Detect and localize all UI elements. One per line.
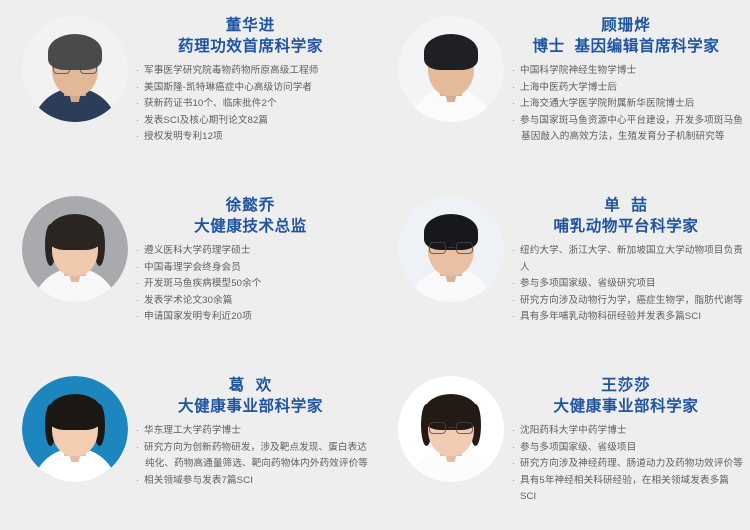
bullet-dot-icon: ·: [136, 243, 139, 260]
credential-item: ·中国科学院神经生物学博士: [512, 63, 744, 80]
credential-text: 研究方向涉及神经药理、肠道动力及药物功效评价等: [520, 458, 743, 469]
profile-heading: 王莎莎大健康事业部科学家: [512, 376, 744, 417]
team-grid: 董华进药理功效首席科学家·军事医学研究院毒物药物所原高级工程师·美国斯隆-凯特琳…: [0, 0, 750, 530]
profile-details: 董华进药理功效首席科学家·军事医学研究院毒物药物所原高级工程师·美国斯隆-凯特琳…: [128, 16, 375, 146]
credential-item: ·纽约大学、浙江大学、新加坡国立大学动物项目负责人: [512, 243, 744, 276]
credential-text-continued: 基因敲入的高效方法，生殖发育分子机制研究等: [520, 129, 744, 146]
person-name: 徐懿乔: [136, 196, 365, 216]
credential-text: 中国科学院神经生物学博士: [520, 65, 636, 76]
credential-text: 获新药证书10个、临床批件2个: [144, 98, 277, 109]
bullet-dot-icon: ·: [136, 113, 139, 130]
bullet-dot-icon: ·: [512, 473, 515, 490]
profile-card: 葛 欢大健康事业部科学家·华东理工大学药学博士·研究方向为创新药物研发，涉及靶点…: [0, 360, 375, 530]
credentials-list: ·华东理工大学药学博士·研究方向为创新药物研发，涉及靶点发现、蛋白表达纯化、药物…: [136, 423, 369, 489]
credential-text: 参与多项国家级、省级项目: [520, 442, 636, 453]
credential-item: ·参与多项国家级、省级研究项目: [512, 276, 744, 293]
credential-text: 研究方向涉及动物行为学，癌症生物学，脂肪代谢等: [520, 295, 743, 306]
avatar: [398, 376, 504, 482]
credential-text: 授权发明专利12项: [144, 131, 223, 142]
credential-item: ·美国斯隆-凯特琳癌症中心高级访问学者: [136, 80, 369, 97]
credential-text-continued: 纯化、药物高通量筛选、靶向药物体内外药效评价等: [144, 456, 369, 473]
credential-text: 申请国家发明专利近20项: [144, 311, 252, 322]
bullet-dot-icon: ·: [136, 293, 139, 310]
bullet-dot-icon: ·: [512, 276, 515, 293]
credential-text: 具有多年哺乳动物科研经验并发表多篇SCI: [520, 311, 701, 322]
credential-item: ·参与多项国家级、省级项目: [512, 440, 744, 457]
profile-details: 单 喆哺乳动物平台科学家·纽约大学、浙江大学、新加坡国立大学动物项目负责人·参与…: [504, 196, 750, 326]
portrait-image: [22, 196, 128, 302]
credential-item: ·军事医学研究院毒物药物所原高级工程师: [136, 63, 369, 80]
credentials-list: ·沈阳药科大学中药学博士·参与多项国家级、省级项目·研究方向涉及神经药理、肠道动…: [512, 423, 744, 506]
credential-text: 美国斯隆-凯特琳癌症中心高级访问学者: [144, 82, 312, 93]
credential-text: 上海交通大学医学院附属新华医院博士后: [520, 98, 695, 109]
credential-item: ·参与国家斑马鱼资源中心平台建设，开发多项斑马鱼基因敲入的高效方法，生殖发育分子…: [512, 113, 744, 146]
credential-item: ·申请国家发明专利近20项: [136, 309, 369, 326]
credential-item: ·华东理工大学药学博士: [136, 423, 369, 440]
glasses-icon: [429, 421, 473, 434]
bullet-dot-icon: ·: [512, 80, 515, 97]
profile-heading: 徐懿乔大健康技术总监: [136, 196, 369, 237]
profile-card: 顾珊烨博士 基因编辑首席科学家·中国科学院神经生物学博士·上海中医药大学博士后·…: [375, 0, 750, 180]
credential-item: ·遵义医科大学药理学硕士: [136, 243, 369, 260]
credential-text: 发表SCI及核心期刊论文82篇: [144, 115, 268, 126]
bullet-dot-icon: ·: [512, 423, 515, 440]
credential-text: 研究方向为创新药物研发，涉及靶点发现、蛋白表达: [144, 442, 367, 453]
bullet-dot-icon: ·: [136, 440, 139, 457]
portrait-hair: [424, 34, 478, 70]
profile-heading: 葛 欢大健康事业部科学家: [136, 376, 369, 417]
credential-item: ·开发斑马鱼疾病模型50余个: [136, 276, 369, 293]
profile-heading: 董华进药理功效首席科学家: [136, 16, 369, 57]
profile-card: 单 喆哺乳动物平台科学家·纽约大学、浙江大学、新加坡国立大学动物项目负责人·参与…: [375, 180, 750, 360]
credential-text: 具有5年神经相关科研经验，在相关领域发表多篇SCI: [520, 475, 729, 503]
bullet-dot-icon: ·: [512, 96, 515, 113]
profile-details: 徐懿乔大健康技术总监·遵义医科大学药理学硕士·中国毒理学会终身会员·开发斑马鱼疾…: [128, 196, 375, 326]
credential-text: 参与国家斑马鱼资源中心平台建设，开发多项斑马鱼: [520, 115, 743, 126]
portrait-image: [398, 16, 504, 122]
profile-details: 顾珊烨博士 基因编辑首席科学家·中国科学院神经生物学博士·上海中医药大学博士后·…: [504, 16, 750, 146]
credential-item: ·相关领域参与发表7篇SCI: [136, 473, 369, 490]
avatar: [22, 376, 128, 482]
bullet-dot-icon: ·: [136, 129, 139, 146]
credentials-list: ·军事医学研究院毒物药物所原高级工程师·美国斯隆-凯特琳癌症中心高级访问学者·获…: [136, 63, 369, 146]
profile-heading: 单 喆哺乳动物平台科学家: [512, 196, 744, 237]
profile-details: 王莎莎大健康事业部科学家·沈阳药科大学中药学博士·参与多项国家级、省级项目·研究…: [504, 376, 750, 506]
person-name: 王莎莎: [512, 376, 740, 396]
profile-heading: 顾珊烨博士 基因编辑首席科学家: [512, 16, 744, 57]
person-title: 大健康事业部科学家: [512, 396, 740, 417]
bullet-dot-icon: ·: [136, 473, 139, 490]
person-name: 顾珊烨: [512, 16, 740, 36]
credential-item: ·上海交通大学医学院附属新华医院博士后: [512, 96, 744, 113]
credential-text: 纽约大学、浙江大学、新加坡国立大学动物项目负责人: [520, 245, 743, 273]
bullet-dot-icon: ·: [136, 260, 139, 277]
credential-item: ·具有5年神经相关科研经验，在相关领域发表多篇SCI: [512, 473, 744, 506]
credential-text: 中国毒理学会终身会员: [144, 262, 241, 273]
credential-item: ·研究方向涉及动物行为学，癌症生物学，脂肪代谢等: [512, 293, 744, 310]
portrait-image: [22, 16, 128, 122]
person-title: 哺乳动物平台科学家: [512, 216, 740, 237]
bullet-dot-icon: ·: [136, 80, 139, 97]
profile-details: 葛 欢大健康事业部科学家·华东理工大学药学博士·研究方向为创新药物研发，涉及靶点…: [128, 376, 375, 489]
portrait-image: [398, 376, 504, 482]
credential-item: ·研究方向为创新药物研发，涉及靶点发现、蛋白表达纯化、药物高通量筛选、靶向药物体…: [136, 440, 369, 473]
bullet-dot-icon: ·: [512, 293, 515, 310]
credential-text: 沈阳药科大学中药学博士: [520, 425, 627, 436]
profile-card: 董华进药理功效首席科学家·军事医学研究院毒物药物所原高级工程师·美国斯隆-凯特琳…: [0, 0, 375, 180]
portrait-image: [22, 376, 128, 482]
person-name: 董华进: [136, 16, 365, 36]
profile-card: 王莎莎大健康事业部科学家·沈阳药科大学中药学博士·参与多项国家级、省级项目·研究…: [375, 360, 750, 530]
person-title: 博士 基因编辑首席科学家: [512, 36, 740, 57]
bullet-dot-icon: ·: [512, 440, 515, 457]
credentials-list: ·遵义医科大学药理学硕士·中国毒理学会终身会员·开发斑马鱼疾病模型50余个·发表…: [136, 243, 369, 326]
credential-text: 上海中医药大学博士后: [520, 82, 617, 93]
avatar: [22, 16, 128, 122]
credential-text: 遵义医科大学药理学硕士: [144, 245, 251, 256]
credentials-list: ·中国科学院神经生物学博士·上海中医药大学博士后·上海交通大学医学院附属新华医院…: [512, 63, 744, 146]
bullet-dot-icon: ·: [136, 309, 139, 326]
bullet-dot-icon: ·: [136, 63, 139, 80]
person-title: 大健康事业部科学家: [136, 396, 365, 417]
credential-item: ·沈阳药科大学中药学博士: [512, 423, 744, 440]
credential-item: ·获新药证书10个、临床批件2个: [136, 96, 369, 113]
bullet-dot-icon: ·: [136, 96, 139, 113]
credential-item: ·中国毒理学会终身会员: [136, 260, 369, 277]
person-title: 药理功效首席科学家: [136, 36, 365, 57]
bullet-dot-icon: ·: [512, 63, 515, 80]
portrait-image: [398, 196, 504, 302]
credential-text: 相关领域参与发表7篇SCI: [144, 475, 253, 486]
credentials-list: ·纽约大学、浙江大学、新加坡国立大学动物项目负责人·参与多项国家级、省级研究项目…: [512, 243, 744, 326]
credential-item: ·研究方向涉及神经药理、肠道动力及药物功效评价等: [512, 456, 744, 473]
bullet-dot-icon: ·: [512, 309, 515, 326]
credential-item: ·上海中医药大学博士后: [512, 80, 744, 97]
bullet-dot-icon: ·: [136, 276, 139, 293]
avatar: [398, 196, 504, 302]
credential-text: 参与多项国家级、省级研究项目: [520, 278, 656, 289]
bullet-dot-icon: ·: [136, 423, 139, 440]
bullet-dot-icon: ·: [512, 243, 515, 260]
portrait-hair: [48, 394, 102, 430]
credential-text: 华东理工大学药学博士: [144, 425, 241, 436]
glasses-icon: [429, 241, 473, 254]
avatar: [22, 196, 128, 302]
avatar: [398, 16, 504, 122]
profile-card: 徐懿乔大健康技术总监·遵义医科大学药理学硕士·中国毒理学会终身会员·开发斑马鱼疾…: [0, 180, 375, 360]
credential-text: 军事医学研究院毒物药物所原高级工程师: [144, 65, 319, 76]
portrait-hair: [48, 214, 102, 250]
credential-text: 发表学术论文30余篇: [144, 295, 232, 306]
glasses-icon: [53, 61, 97, 74]
credential-item: ·发表SCI及核心期刊论文82篇: [136, 113, 369, 130]
person-name: 葛 欢: [136, 376, 365, 396]
bullet-dot-icon: ·: [512, 456, 515, 473]
person-title: 大健康技术总监: [136, 216, 365, 237]
credential-item: ·授权发明专利12项: [136, 129, 369, 146]
credential-text: 开发斑马鱼疾病模型50余个: [144, 278, 262, 289]
credential-item: ·发表学术论文30余篇: [136, 293, 369, 310]
credential-item: ·具有多年哺乳动物科研经验并发表多篇SCI: [512, 309, 744, 326]
person-name: 单 喆: [512, 196, 740, 216]
bullet-dot-icon: ·: [512, 113, 515, 130]
